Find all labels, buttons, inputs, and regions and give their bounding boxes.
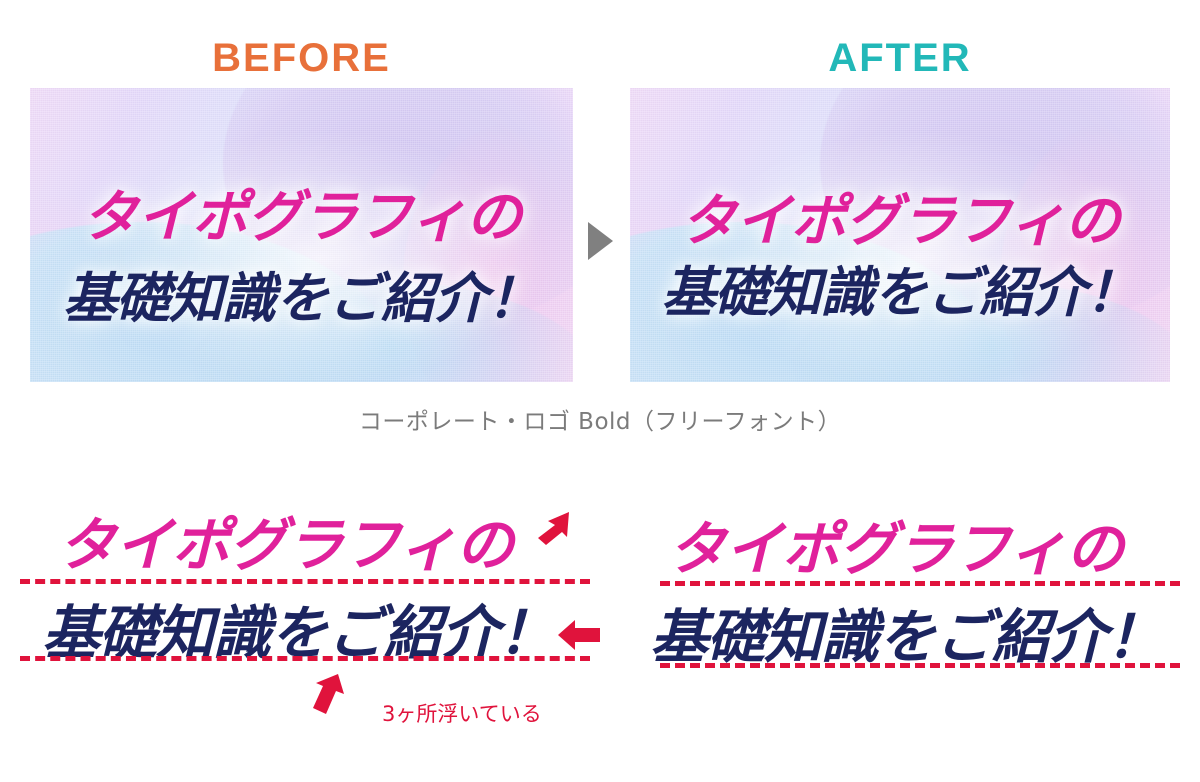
banner-before-headline-line1: タイポグラフィの [30,172,573,253]
banner-before-headline-line2: 基礎知識をご紹介！ [30,254,573,333]
baseline-dashed-1 [20,579,590,584]
diagram-after: タイポグラフィの 基礎知識をご紹介！ [630,490,1190,740]
font-name-caption: コーポレート・ロゴ Bold（フリーフォント） [0,402,1200,436]
diagram-before-line1: タイポグラフィの [58,498,513,582]
annotation-arrow-up-icon [308,672,346,716]
banner-before: タイポグラフィの 基礎知識をご紹介！ [30,88,573,382]
banner-after: タイポグラフィの 基礎知識をご紹介！ [630,88,1170,382]
annotation-arrow-left-icon [556,618,602,652]
annotation-note-text: 3ヶ所浮いている [382,698,542,728]
banner-after-headline-line1: タイポグラフィの [630,176,1170,257]
play-triangle-icon [588,222,613,260]
banner-after-headline-line2: 基礎知識をご紹介！ [630,248,1170,327]
after-label: AFTER [630,38,1170,78]
baseline-dashed-2 [20,656,590,661]
baseline-dashed-1 [660,581,1180,586]
diagram-after-line2: 基礎知識をご紹介！ [650,590,1163,674]
before-label: BEFORE [30,38,573,78]
baseline-dashed-2 [660,663,1180,668]
diagram-after-line1: タイポグラフィの [668,502,1123,586]
annotation-arrow-down-left-icon [528,508,572,548]
page-root: BEFORE AFTER タイポグラフィの 基礎知識をご紹介！ [0,0,1200,782]
